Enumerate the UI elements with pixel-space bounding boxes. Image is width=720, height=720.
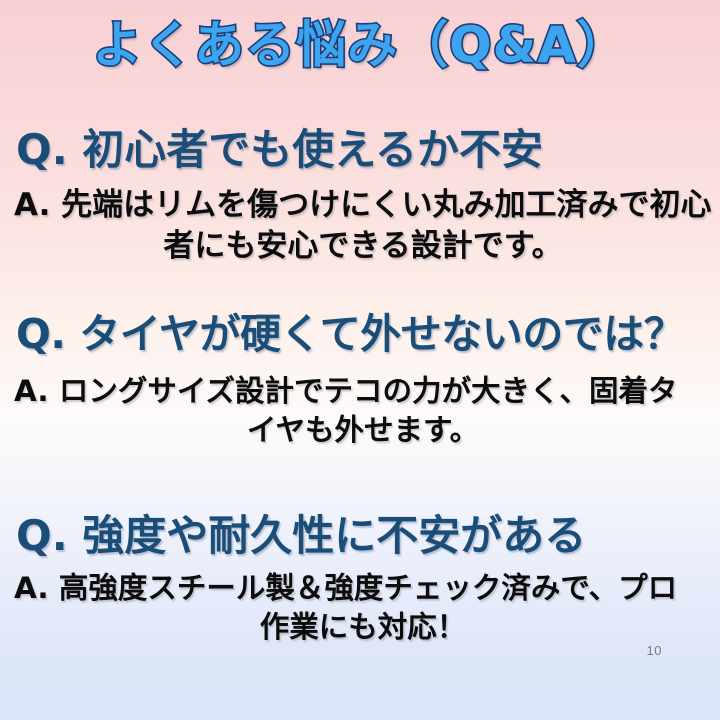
answer-3-line-2: 作業にも対応！	[14, 608, 712, 647]
slide-title-container: よくある悩み（Q&A）	[0, 18, 720, 72]
answer-3-line-1: A. 高強度スチール製＆強度チェック済みで、プロ	[14, 569, 712, 608]
answer-1-line-2: 者にも安心できる設計です。	[14, 226, 712, 267]
answer-paragraph-3: A. 高強度スチール製＆強度チェック済みで、プロ 作業にも対応！	[0, 569, 720, 647]
question-heading-3: Q. 強度や耐久性に不安がある	[0, 512, 720, 559]
page-title: よくある悩み（Q&A）	[92, 18, 628, 72]
qa-block-3: Q. 強度や耐久性に不安がある A. 高強度スチール製＆強度チェック済みで、プロ…	[0, 512, 720, 647]
answer-2-line-1: A. ロングサイズ設計でテコの力が大きく、固着タ	[14, 372, 712, 411]
page-number: 10	[647, 643, 662, 658]
qa-block-1: Q. 初心者でも使えるか不安 A. 先端はリムを傷つけにくい丸み加工済みで初心 …	[0, 126, 720, 267]
answer-2-line-2: イヤも外せます。	[14, 411, 712, 450]
qa-block-2: Q. タイヤが硬くて外せないのでは？ A. ロングサイズ設計でテコの力が大きく、…	[0, 312, 720, 450]
answer-1-line-1: A. 先端はリムを傷つけにくい丸み加工済みで初心	[14, 185, 712, 226]
answer-paragraph-1: A. 先端はリムを傷つけにくい丸み加工済みで初心 者にも安心できる設計です。	[0, 185, 720, 267]
answer-paragraph-2: A. ロングサイズ設計でテコの力が大きく、固着タ イヤも外せます。	[0, 372, 720, 450]
question-heading-1: Q. 初心者でも使えるか不安	[0, 126, 720, 173]
slide-canvas: よくある悩み（Q&A） Q. 初心者でも使えるか不安 A. 先端はリムを傷つけに…	[0, 0, 720, 720]
question-heading-2: Q. タイヤが硬くて外せないのでは？	[0, 312, 720, 358]
